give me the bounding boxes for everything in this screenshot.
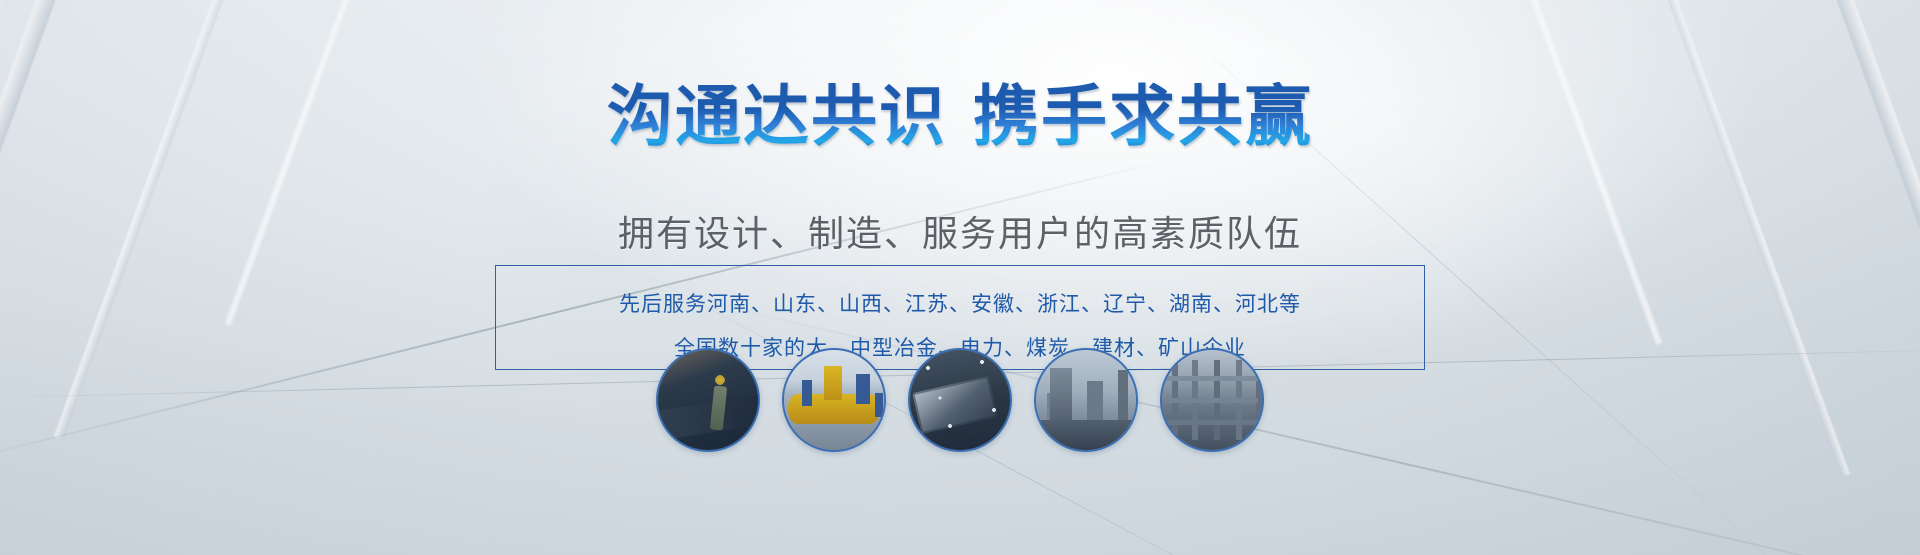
thumbnail-scaffolding[interactable]: [1160, 348, 1264, 452]
promo-banner: 沟通达共识携手求共赢 拥有设计、制造、服务用户的高素质队伍 先后服务河南、山东、…: [0, 0, 1920, 555]
thumbnail-steel-plate-worker[interactable]: [656, 348, 760, 452]
photo-tint-overlay: [910, 350, 1010, 450]
photo-tint-overlay: [784, 350, 884, 450]
headline-part-2: 携手求共赢: [973, 78, 1313, 155]
photo-tint-overlay: [1162, 350, 1262, 450]
project-thumbnail-strip: [656, 348, 1264, 452]
banner-content: 沟通达共识携手求共赢 拥有设计、制造、服务用户的高素质队伍 先后服务河南、山东、…: [0, 0, 1920, 555]
thumbnail-yellow-machine[interactable]: [782, 348, 886, 452]
thumbnail-metal-slab[interactable]: [908, 348, 1012, 452]
banner-headline: 沟通达共识携手求共赢: [0, 82, 1920, 151]
photo-tint-overlay: [1036, 350, 1136, 450]
service-scope-line-1: 先后服务河南、山东、山西、江苏、安徽、浙江、辽宁、湖南、河北等: [496, 288, 1424, 318]
thumbnail-industrial-plant[interactable]: [1034, 348, 1138, 452]
photo-tint-overlay: [658, 350, 758, 450]
headline-part-1: 沟通达共识: [607, 78, 947, 155]
banner-subtitle: 拥有设计、制造、服务用户的高素质队伍: [0, 205, 1920, 257]
